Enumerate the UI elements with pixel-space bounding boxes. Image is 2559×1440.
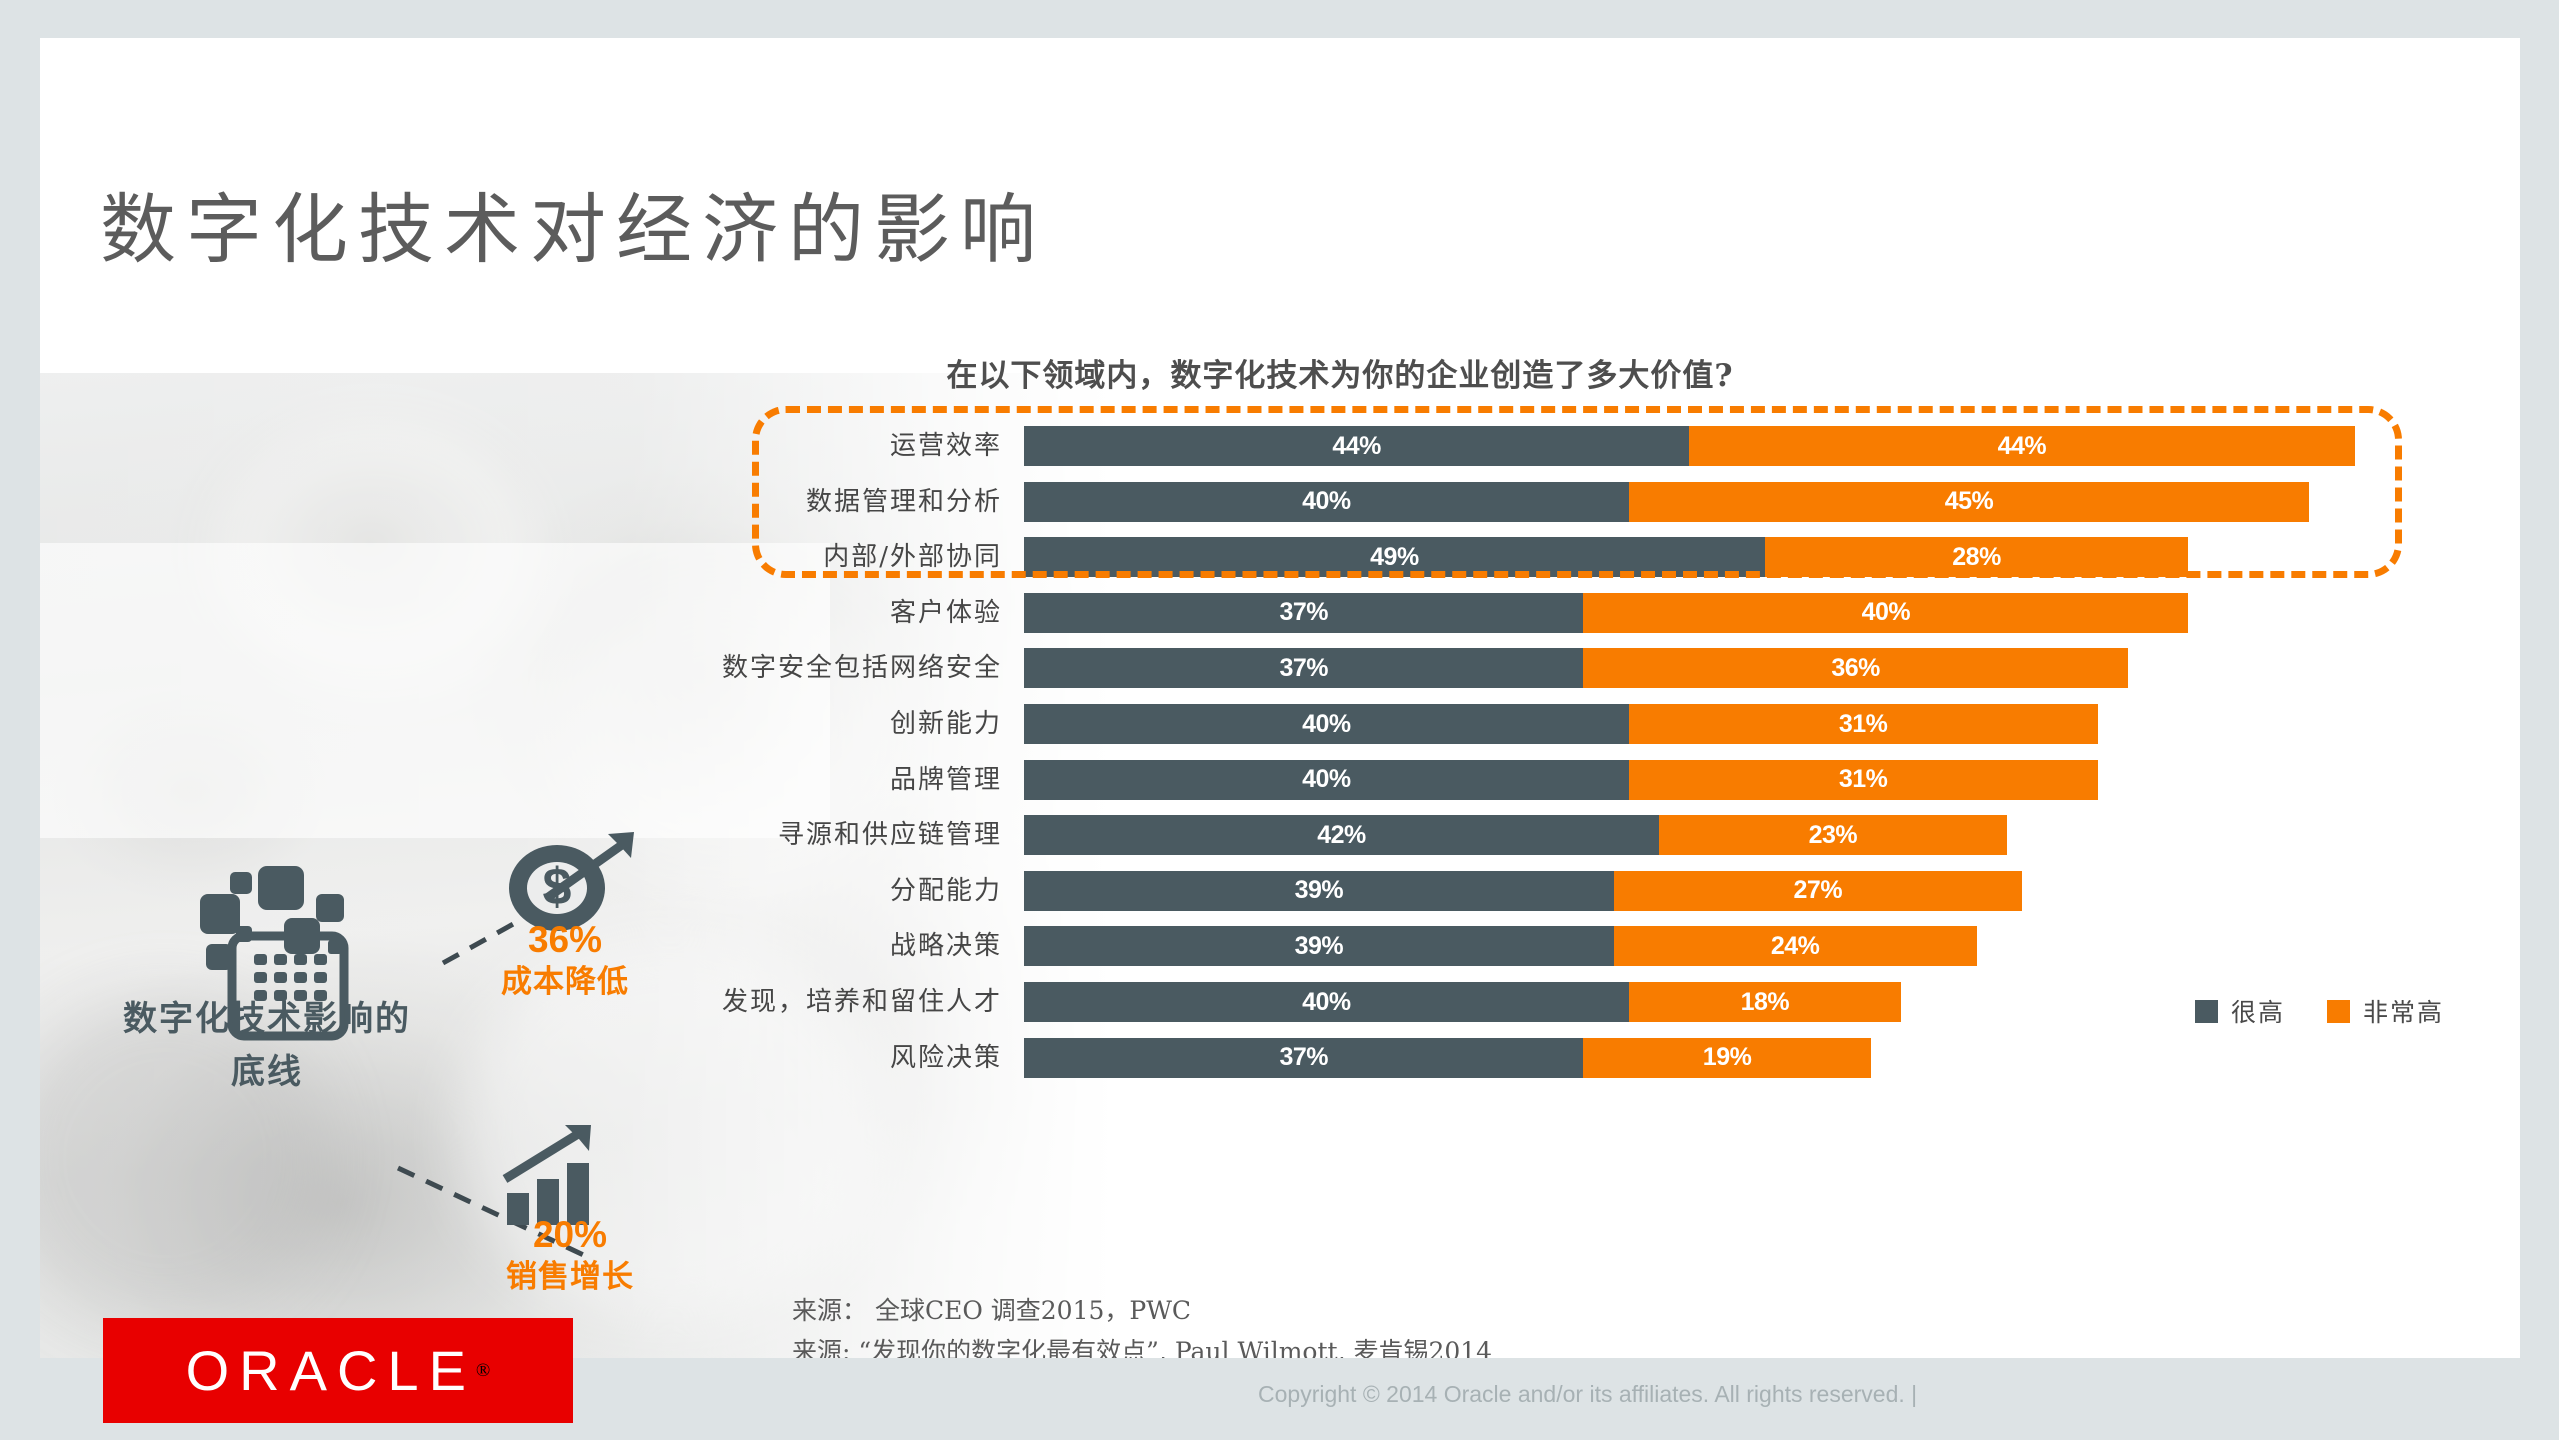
oracle-wordmark: ORACLE <box>186 1338 476 1403</box>
bar-segment-very-high: 37% <box>1024 593 1583 633</box>
chart-row: 数字安全包括网络安全37%36% <box>40 648 2520 688</box>
chart-row-bars: 39%24% <box>1024 926 1977 966</box>
legend-item-very-high: 很高 <box>2195 993 2285 1029</box>
chart-row-label: 发现，培养和留住人才 <box>572 982 1002 1022</box>
legend-swatch-icon <box>2327 1000 2350 1023</box>
chart-row-bars: 42%23% <box>1024 815 2007 855</box>
bar-segment-extremely-high: 36% <box>1583 648 2127 688</box>
bar-segment-extremely-high: 23% <box>1659 815 2007 855</box>
chart-row-bars: 37%19% <box>1024 1038 1871 1078</box>
bar-segment-extremely-high: 31% <box>1629 704 2098 744</box>
bar-segment-very-high: 39% <box>1024 926 1614 966</box>
chart-row-bars: 39%27% <box>1024 871 2022 911</box>
bar-segment-extremely-high: 31% <box>1629 760 2098 800</box>
bar-segment-very-high: 40% <box>1024 982 1629 1022</box>
bar-segment-extremely-high: 18% <box>1629 982 1901 1022</box>
stacked-bar-chart: 运营效率44%44%数据管理和分析40%45%内部/外部协同49%28%客户体验… <box>40 38 2520 1404</box>
chart-row: 创新能力40%31% <box>40 704 2520 744</box>
chart-row: 客户体验37%40% <box>40 593 2520 633</box>
bar-segment-very-high: 42% <box>1024 815 1659 855</box>
bar-segment-extremely-high: 27% <box>1614 871 2022 911</box>
chart-row: 风险决策37%19% <box>40 1038 2520 1078</box>
chart-row-bars: 37%40% <box>1024 593 2188 633</box>
highlight-box <box>752 406 2402 578</box>
chart-row-label: 客户体验 <box>572 593 1002 633</box>
chart-row: 战略决策39%24% <box>40 926 2520 966</box>
copyright-text: Copyright © 2014 Oracle and/or its affil… <box>1258 1381 1917 1408</box>
chart-row-bars: 40%18% <box>1024 982 1901 1022</box>
bar-segment-very-high: 40% <box>1024 704 1629 744</box>
chart-row-label: 分配能力 <box>572 871 1002 911</box>
bar-segment-extremely-high: 40% <box>1583 593 2188 633</box>
chart-row-bars: 37%36% <box>1024 648 2128 688</box>
chart-row-label: 创新能力 <box>572 704 1002 744</box>
registered-mark-icon: ® <box>476 1360 490 1382</box>
source-line: 来源： 全球CEO 调查2015，PWC <box>792 1290 1492 1331</box>
bar-segment-extremely-high: 24% <box>1614 926 1977 966</box>
legend-label: 非常高 <box>2363 993 2444 1029</box>
chart-row: 寻源和供应链管理42%23% <box>40 815 2520 855</box>
bar-segment-very-high: 37% <box>1024 1038 1583 1078</box>
bar-segment-very-high: 40% <box>1024 760 1629 800</box>
chart-row: 发现，培养和留住人才40%18% <box>40 982 2520 1022</box>
slide-canvas: 数字化技术对经济的影响 在以下领域内，数字化技术为你的企业创造了多大价值? <box>40 38 2520 1404</box>
chart-row-label: 品牌管理 <box>572 760 1002 800</box>
legend-label: 很高 <box>2231 993 2285 1029</box>
bar-segment-very-high: 39% <box>1024 871 1614 911</box>
legend-item-extremely-high: 非常高 <box>2327 993 2444 1029</box>
chart-row: 品牌管理40%31% <box>40 760 2520 800</box>
chart-row-bars: 40%31% <box>1024 704 2098 744</box>
chart-row: 分配能力39%27% <box>40 871 2520 911</box>
bar-segment-very-high: 37% <box>1024 648 1583 688</box>
chart-row-label: 战略决策 <box>572 926 1002 966</box>
chart-row-label: 寻源和供应链管理 <box>572 815 1002 855</box>
legend-swatch-icon <box>2195 1000 2218 1023</box>
chart-row-label: 风险决策 <box>572 1038 1002 1078</box>
chart-legend: 很高 非常高 <box>2195 993 2444 1029</box>
chart-row-bars: 40%31% <box>1024 760 2098 800</box>
bar-segment-extremely-high: 19% <box>1583 1038 1870 1078</box>
chart-row-label: 数字安全包括网络安全 <box>572 648 1002 688</box>
oracle-logo: ORACLE® <box>103 1318 573 1423</box>
